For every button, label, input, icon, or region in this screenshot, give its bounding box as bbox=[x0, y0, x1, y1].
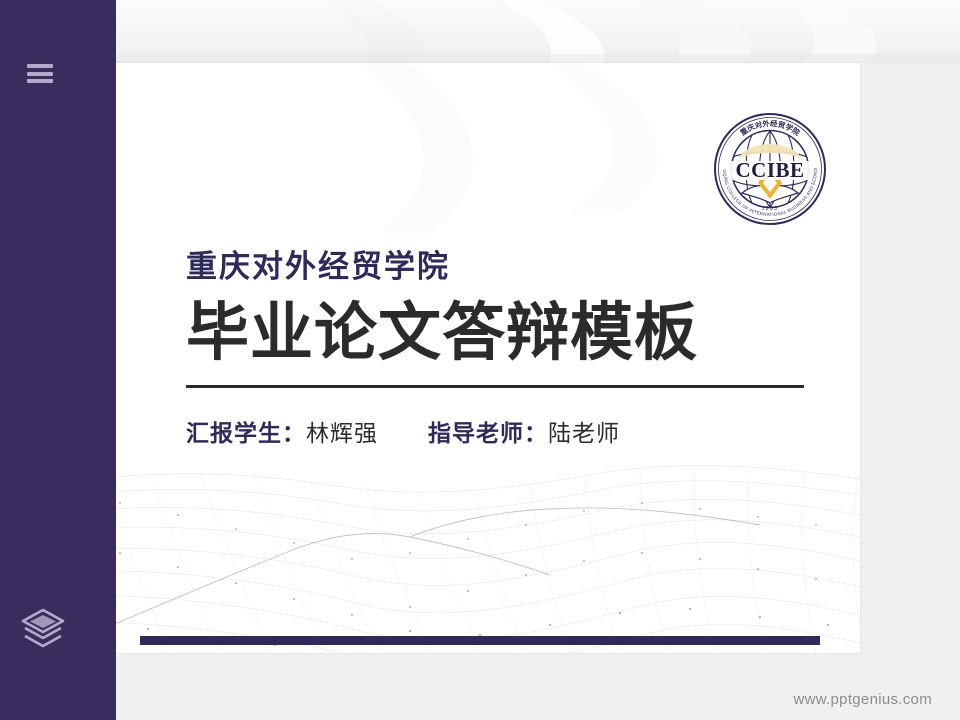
top-curves-decoration bbox=[116, 0, 960, 64]
top-decorative-strip bbox=[116, 0, 960, 64]
hamburger-bar-3 bbox=[27, 79, 53, 83]
university-seal-icon: CCIBE 重庆对外经贸学院 CHONGQING COLLEGE OF INTE… bbox=[708, 107, 832, 231]
hamburger-menu-icon[interactable] bbox=[27, 64, 53, 83]
advisor-meta: 指导老师： 陆老师 bbox=[428, 414, 620, 448]
slide-canvas[interactable]: CCIBE 重庆对外经贸学院 CHONGQING COLLEGE OF INTE… bbox=[80, 63, 860, 653]
stacked-layers-logo-icon[interactable] bbox=[19, 606, 67, 650]
student-label: 汇报学生： bbox=[186, 414, 306, 448]
meta-row: 汇报学生： 林辉强 指导老师： 陆老师 bbox=[186, 414, 826, 448]
title-divider bbox=[186, 385, 804, 388]
svg-text:1993: 1993 bbox=[762, 206, 779, 212]
slide-text-block: 重庆对外经贸学院 毕业论文答辩模板 汇报学生： 林辉强 指导老师： 陆老师 bbox=[186, 248, 826, 448]
slide-accent-bar bbox=[140, 636, 820, 645]
footer-url: www.pptgenius.com bbox=[794, 691, 933, 708]
student-name: 林辉强 bbox=[306, 414, 378, 448]
hamburger-bar-1 bbox=[27, 64, 53, 68]
student-meta: 汇报学生： 林辉强 bbox=[186, 414, 378, 448]
svg-text:CCIBE: CCIBE bbox=[735, 158, 804, 182]
page-title: 毕业论文答辩模板 bbox=[186, 298, 826, 369]
hamburger-bar-2 bbox=[27, 72, 53, 76]
dotted-mesh-decoration bbox=[80, 433, 860, 653]
school-name: 重庆对外经贸学院 bbox=[186, 248, 826, 287]
left-sidebar bbox=[0, 0, 116, 720]
slide-preview-page: CCIBE 重庆对外经贸学院 CHONGQING COLLEGE OF INTE… bbox=[0, 0, 960, 720]
advisor-label: 指导老师： bbox=[428, 414, 548, 448]
advisor-name: 陆老师 bbox=[548, 414, 620, 448]
